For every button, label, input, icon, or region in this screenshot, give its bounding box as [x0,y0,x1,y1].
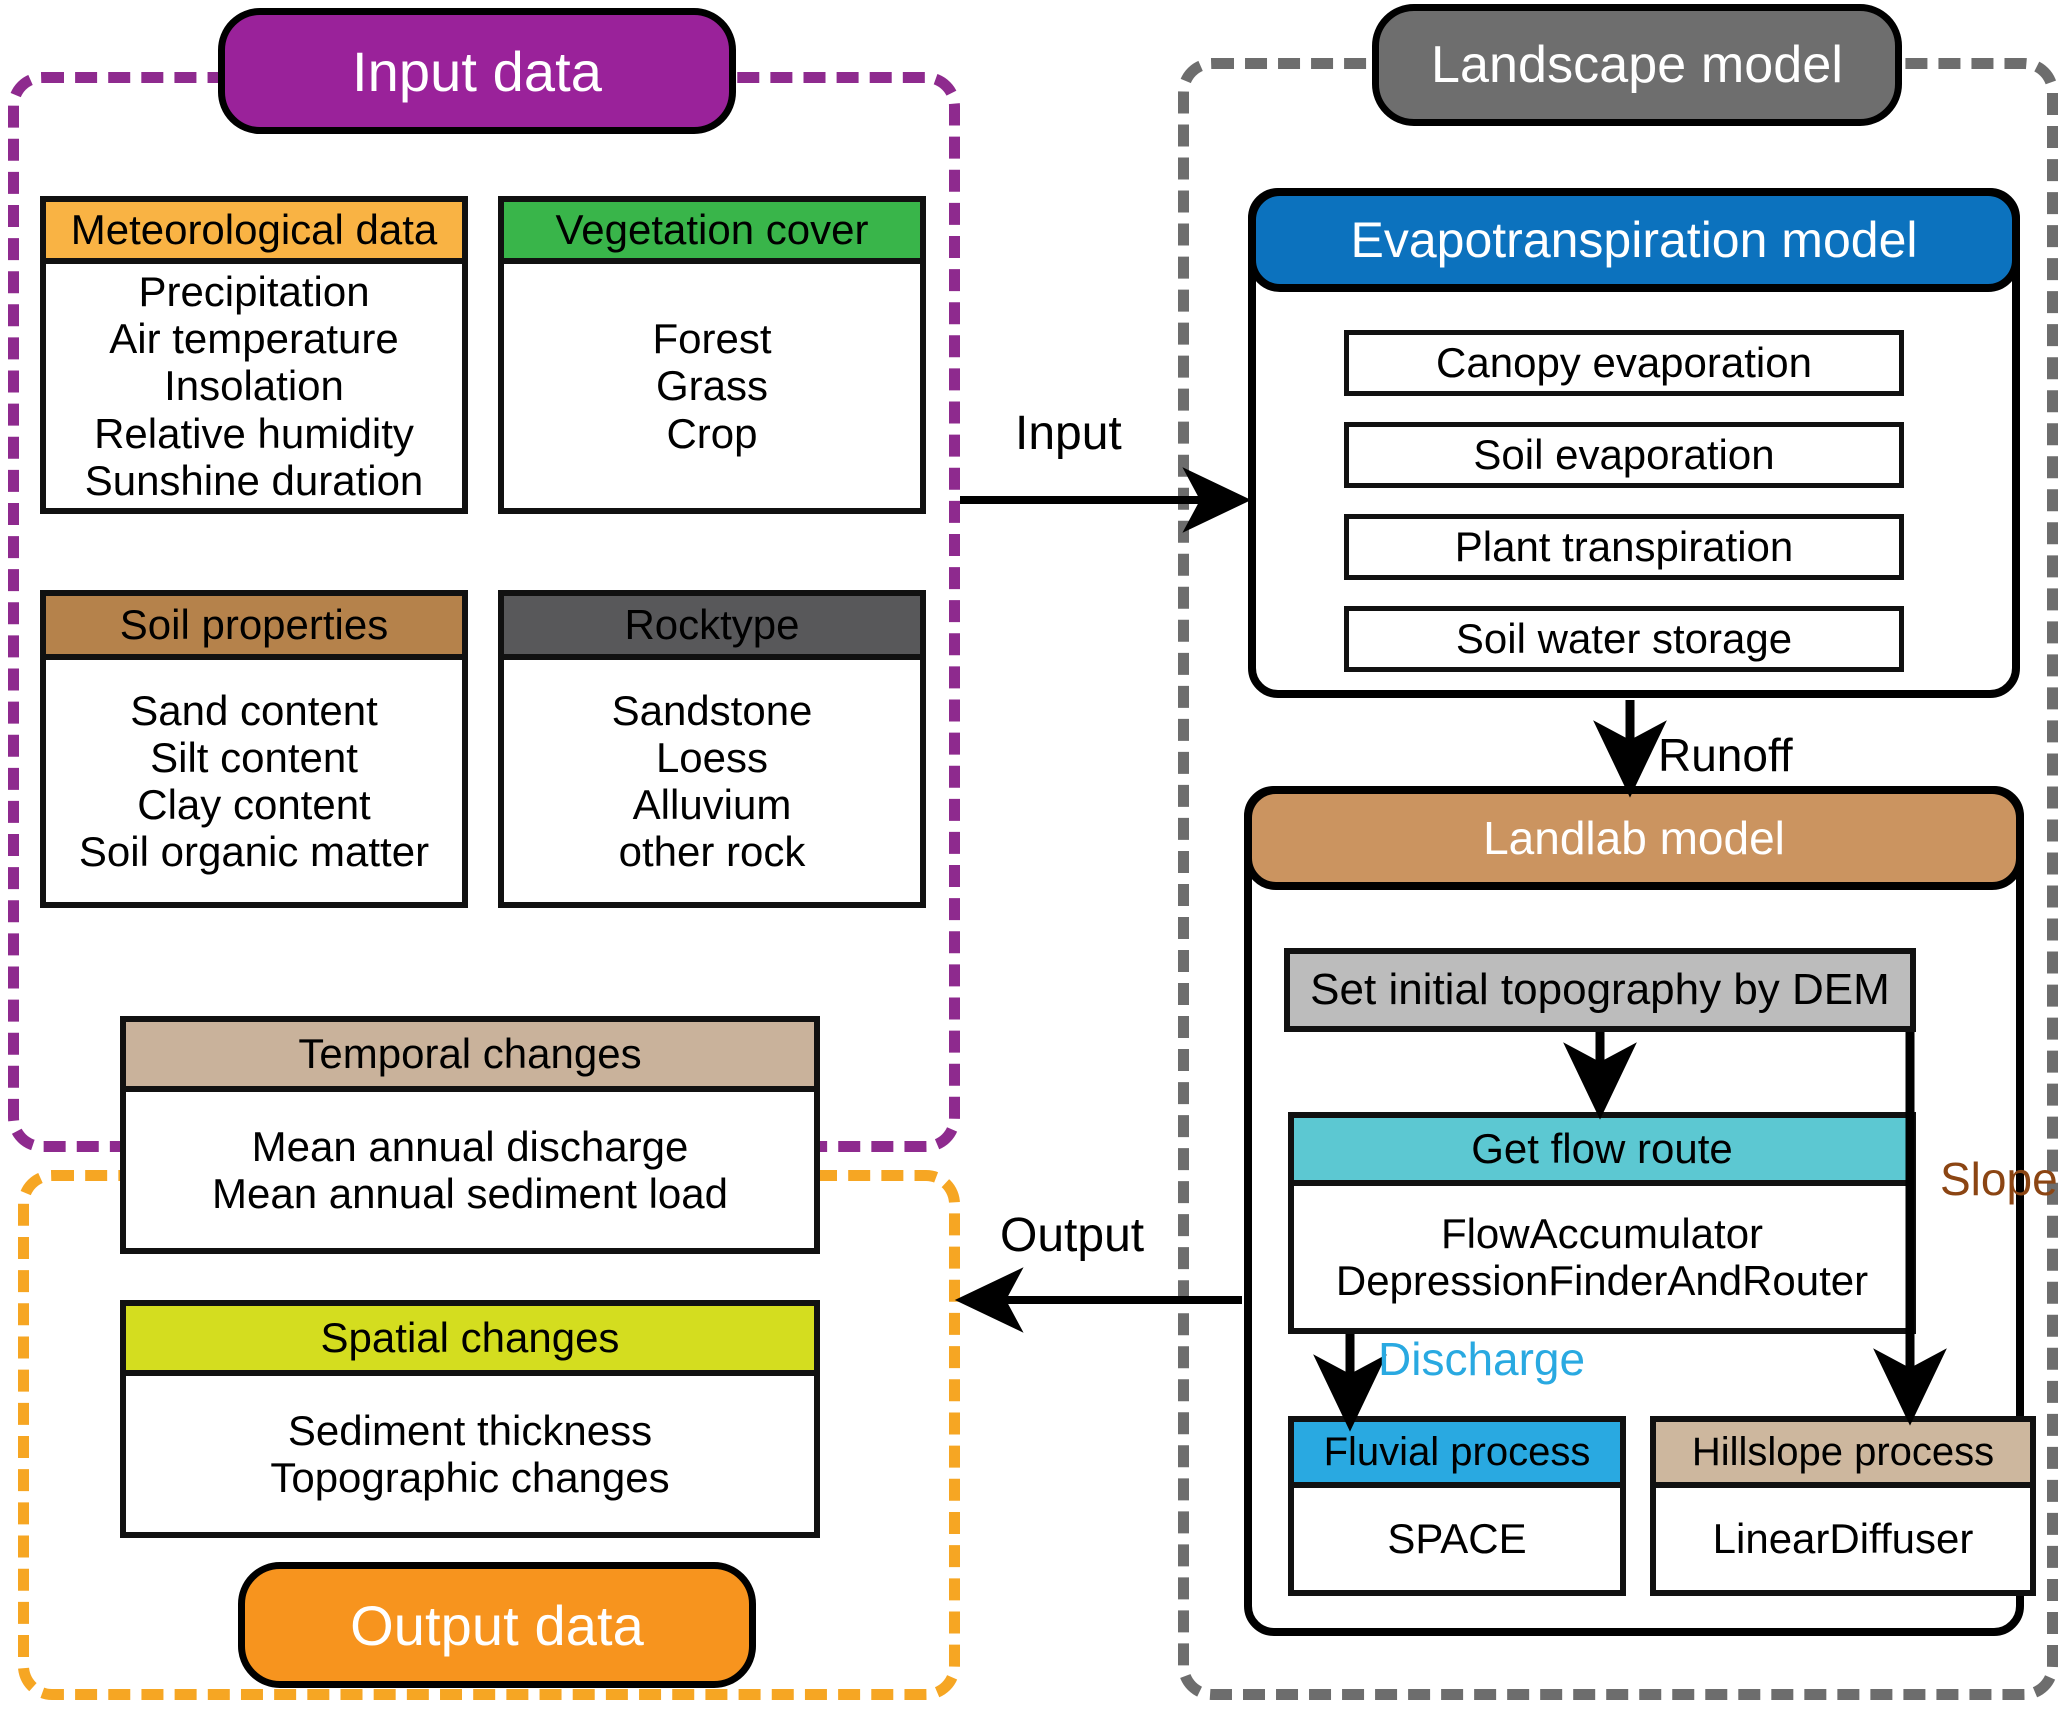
plant-transpiration-box: Plant transpiration [1344,514,1904,580]
landscape-model-title-label: Landscape model [1431,35,1843,95]
meteorological-data-header: Meteorological data [46,202,462,264]
get-flow-route-body: FlowAccumulator DepressionFinderAndRoute… [1294,1186,1910,1328]
temporal-changes-body: Mean annual discharge Mean annual sedime… [126,1092,814,1248]
fluvial-process-header-label: Fluvial process [1324,1432,1591,1472]
soil-water-storage-label: Soil water storage [1456,615,1792,663]
meteorological-data-table: Meteorological data Precipitation Air te… [40,196,468,514]
set-initial-topography-box: Set initial topography by DEM [1284,948,1916,1032]
output-arrow [960,1270,1260,1330]
list-item: Loess [656,734,768,781]
output-arrow-label: Output [1000,1208,1144,1263]
diagram-canvas: Input data Output data Landscape model M… [0,0,2067,1710]
vegetation-cover-header: Vegetation cover [504,202,920,264]
get-flow-route-header-label: Get flow route [1471,1128,1732,1170]
get-flow-route-table: Get flow route FlowAccumulator Depressio… [1288,1112,1916,1334]
list-item: Mean annual sediment load [212,1170,728,1217]
evapotranspiration-model-title: Evapotranspiration model [1248,188,2020,292]
list-item: Forest [652,315,771,362]
list-item: SPACE [1387,1515,1526,1562]
temporal-changes-header-label: Temporal changes [298,1033,641,1075]
list-item: Clay content [137,781,370,828]
rocktype-table: Rocktype Sandstone Loess Alluvium other … [498,590,926,908]
soil-evaporation-label: Soil evaporation [1473,431,1774,479]
list-item: Alluvium [633,781,792,828]
list-item: DepressionFinderAndRouter [1336,1257,1868,1304]
rocktype-header-label: Rocktype [624,604,799,646]
list-item: Mean annual discharge [252,1123,689,1170]
list-item: Air temperature [109,315,398,362]
fluvial-process-table: Fluvial process SPACE [1288,1416,1626,1596]
hillslope-process-header: Hillslope process [1656,1422,2030,1488]
soil-properties-table: Soil properties Sand content Silt conten… [40,590,468,908]
dem-to-flowroute-arrow [1560,1032,1640,1124]
soil-properties-body: Sand content Silt content Clay content S… [46,660,462,902]
input-data-title-pill: Input data [218,8,736,134]
canopy-evaporation-box: Canopy evaporation [1344,330,1904,396]
list-item: Insolation [164,362,344,409]
output-data-title-label: Output data [350,1593,644,1658]
slope-arrow-label: Slope [1940,1152,2058,1206]
list-item: Topographic changes [270,1454,669,1501]
list-item: Sand content [130,687,378,734]
landlab-model-title: Landlab model [1244,786,2024,890]
list-item: FlowAccumulator [1441,1210,1763,1257]
landscape-model-title-pill: Landscape model [1372,4,1902,126]
temporal-changes-table: Temporal changes Mean annual discharge M… [120,1016,820,1254]
set-initial-topography-label: Set initial topography by DEM [1310,965,1890,1015]
input-arrow-label: Input [1015,406,1122,461]
discharge-arrow-label: Discharge [1378,1332,1585,1386]
get-flow-route-header: Get flow route [1294,1118,1910,1186]
list-item: Precipitation [138,268,369,315]
input-arrow [960,470,1260,530]
list-item: LinearDiffuser [1713,1515,1974,1562]
list-item: Sandstone [612,687,813,734]
vegetation-cover-table: Vegetation cover Forest Grass Crop [498,196,926,514]
rocktype-body: Sandstone Loess Alluvium other rock [504,660,920,902]
meteorological-data-header-label: Meteorological data [71,209,438,251]
soil-properties-header: Soil properties [46,596,462,660]
output-data-title-pill: Output data [238,1562,756,1688]
hillslope-process-header-label: Hillslope process [1692,1432,1994,1472]
list-item: Sediment thickness [288,1407,652,1454]
slope-arrow [1860,1032,1960,1432]
list-item: Grass [656,362,768,409]
vegetation-cover-header-label: Vegetation cover [556,209,869,251]
list-item: Soil organic matter [79,828,429,875]
runoff-arrow-label: Runoff [1658,728,1793,782]
list-item: Sunshine duration [85,457,424,504]
fluvial-process-body: SPACE [1294,1488,1620,1590]
rocktype-header: Rocktype [504,596,920,660]
spatial-changes-header: Spatial changes [126,1306,814,1376]
soil-water-storage-box: Soil water storage [1344,606,1904,672]
temporal-changes-header: Temporal changes [126,1022,814,1092]
list-item: Silt content [150,734,358,781]
evapotranspiration-model-title-label: Evapotranspiration model [1351,211,1918,269]
spatial-changes-body: Sediment thickness Topographic changes [126,1376,814,1532]
meteorological-data-body: Precipitation Air temperature Insolation… [46,264,462,508]
input-data-title-label: Input data [352,39,602,104]
plant-transpiration-label: Plant transpiration [1455,523,1794,571]
spatial-changes-header-label: Spatial changes [321,1317,620,1359]
soil-evaporation-box: Soil evaporation [1344,422,1904,488]
list-item: Relative humidity [94,410,414,457]
soil-properties-header-label: Soil properties [120,604,388,646]
landlab-model-title-label: Landlab model [1483,811,1785,865]
spatial-changes-table: Spatial changes Sediment thickness Topog… [120,1300,820,1538]
list-item: other rock [619,828,806,875]
list-item: Crop [666,410,757,457]
hillslope-process-body: LinearDiffuser [1656,1488,2030,1590]
hillslope-process-table: Hillslope process LinearDiffuser [1650,1416,2036,1596]
vegetation-cover-body: Forest Grass Crop [504,264,920,508]
canopy-evaporation-label: Canopy evaporation [1436,339,1812,387]
